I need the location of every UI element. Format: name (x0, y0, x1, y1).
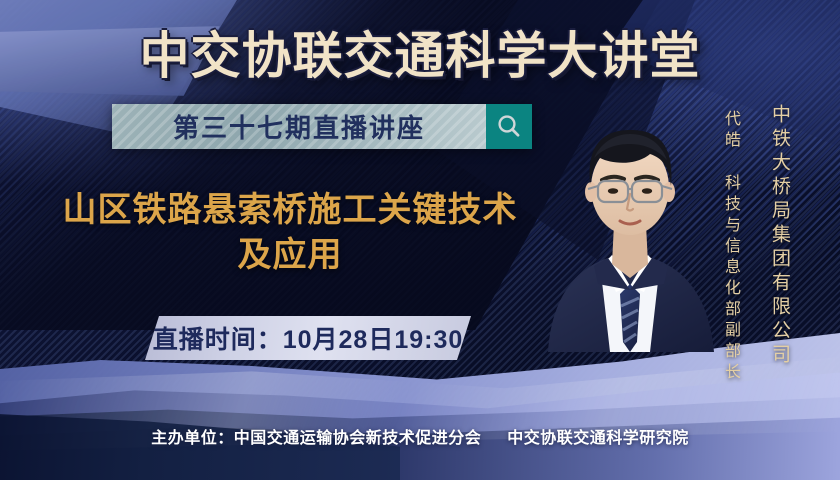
lecture-topic-line2: 及应用 (20, 233, 560, 278)
footer-prefix: 主办单位： (151, 430, 234, 447)
speaker-organization: 中铁大桥局集团有限公司 (766, 104, 793, 368)
page-title: 中交协联交通科学大讲堂 (0, 16, 840, 88)
speaker-name-and-title: 代皓 科技与信息化部副部长 (718, 110, 742, 384)
footer-organizer-2: 中交协联交通科学研究院 (507, 430, 689, 447)
schedule-label: 直播时间：10月28日19:30 (153, 320, 464, 356)
episode-banner-body: 第三十七期直播讲座 (112, 104, 486, 149)
episode-banner: 第三十七期直播讲座 (112, 104, 532, 149)
speaker-portrait (538, 92, 722, 352)
footer-organizers: 主办单位：中国交通运输协会新技术促进分会中交协联交通科学研究院 (0, 424, 840, 448)
lecture-topic: 山区铁路悬索桥施工关键技术 及应用 (20, 188, 560, 278)
search-icon-box[interactable] (486, 104, 532, 149)
search-icon (494, 112, 524, 142)
webinar-poster: 中交协联交通科学大讲堂 第三十七期直播讲座 山区铁路悬索桥施工关键技术 及应用 … (0, 0, 840, 480)
schedule-badge: 直播时间：10月28日19:30 (145, 316, 471, 360)
footer-organizer-1: 中国交通运输协会新技术促进分会 (234, 430, 482, 447)
episode-label: 第三十七期直播讲座 (173, 108, 425, 145)
lecture-topic-line1: 山区铁路悬索桥施工关键技术 (63, 191, 518, 229)
